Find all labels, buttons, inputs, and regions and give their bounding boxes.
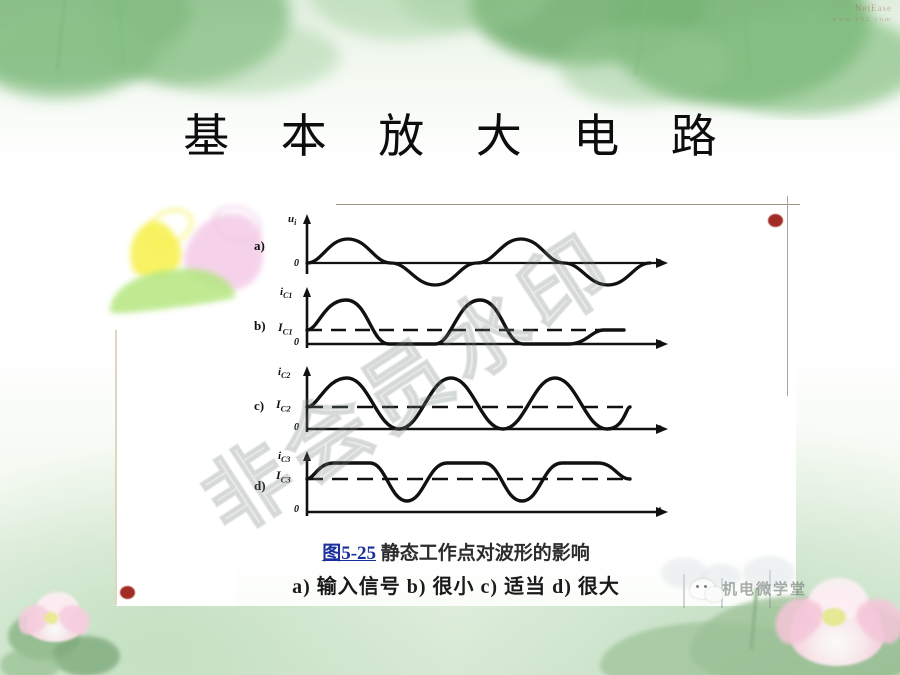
waveform-panel-d: d) iC3 IC3 0 t <box>252 450 682 528</box>
top-horizontal-rule <box>336 204 800 205</box>
left-vertical-rule <box>115 330 117 605</box>
wechat-account-label: 机电微学堂 <box>722 578 807 599</box>
figure-caption-text: 静态工作点对波形的影响 <box>376 543 590 564</box>
panel-d-plot <box>252 450 682 528</box>
content-card: a) ui 0 t b) iC1 IC1 0 t <box>116 198 796 606</box>
waveform-panel-c: c) iC2 IC2 0 t <box>252 366 682 444</box>
waveform-panel-a: a) ui 0 t <box>252 212 682 290</box>
waveform-panel-b: b) iC1 IC1 0 t <box>252 286 682 364</box>
wechat-icon <box>690 579 716 599</box>
panel-c-plot <box>252 366 682 444</box>
waveform-figure: a) ui 0 t b) iC1 IC1 0 t <box>252 212 682 530</box>
page-title: 基 本 放 大 电 路 <box>0 100 900 166</box>
bottom-left-accent-dot <box>120 586 135 599</box>
slide-canvas: NetEase www.163.com 基 本 放 大 电 路 a) ui 0 … <box>0 0 900 675</box>
wechat-watermark: 机电微学堂 <box>690 578 807 599</box>
netease-url-label: www.163.com <box>832 14 892 25</box>
panel-b-plot <box>252 286 682 364</box>
top-right-accent-dot <box>768 214 783 227</box>
figure-number: 图5-25 <box>322 543 376 564</box>
right-vertical-rule <box>787 196 788 396</box>
netease-brand-label: NetEase <box>855 3 892 13</box>
netease-watermark: NetEase www.163.com <box>832 3 892 25</box>
panel-a-plot <box>252 212 682 290</box>
